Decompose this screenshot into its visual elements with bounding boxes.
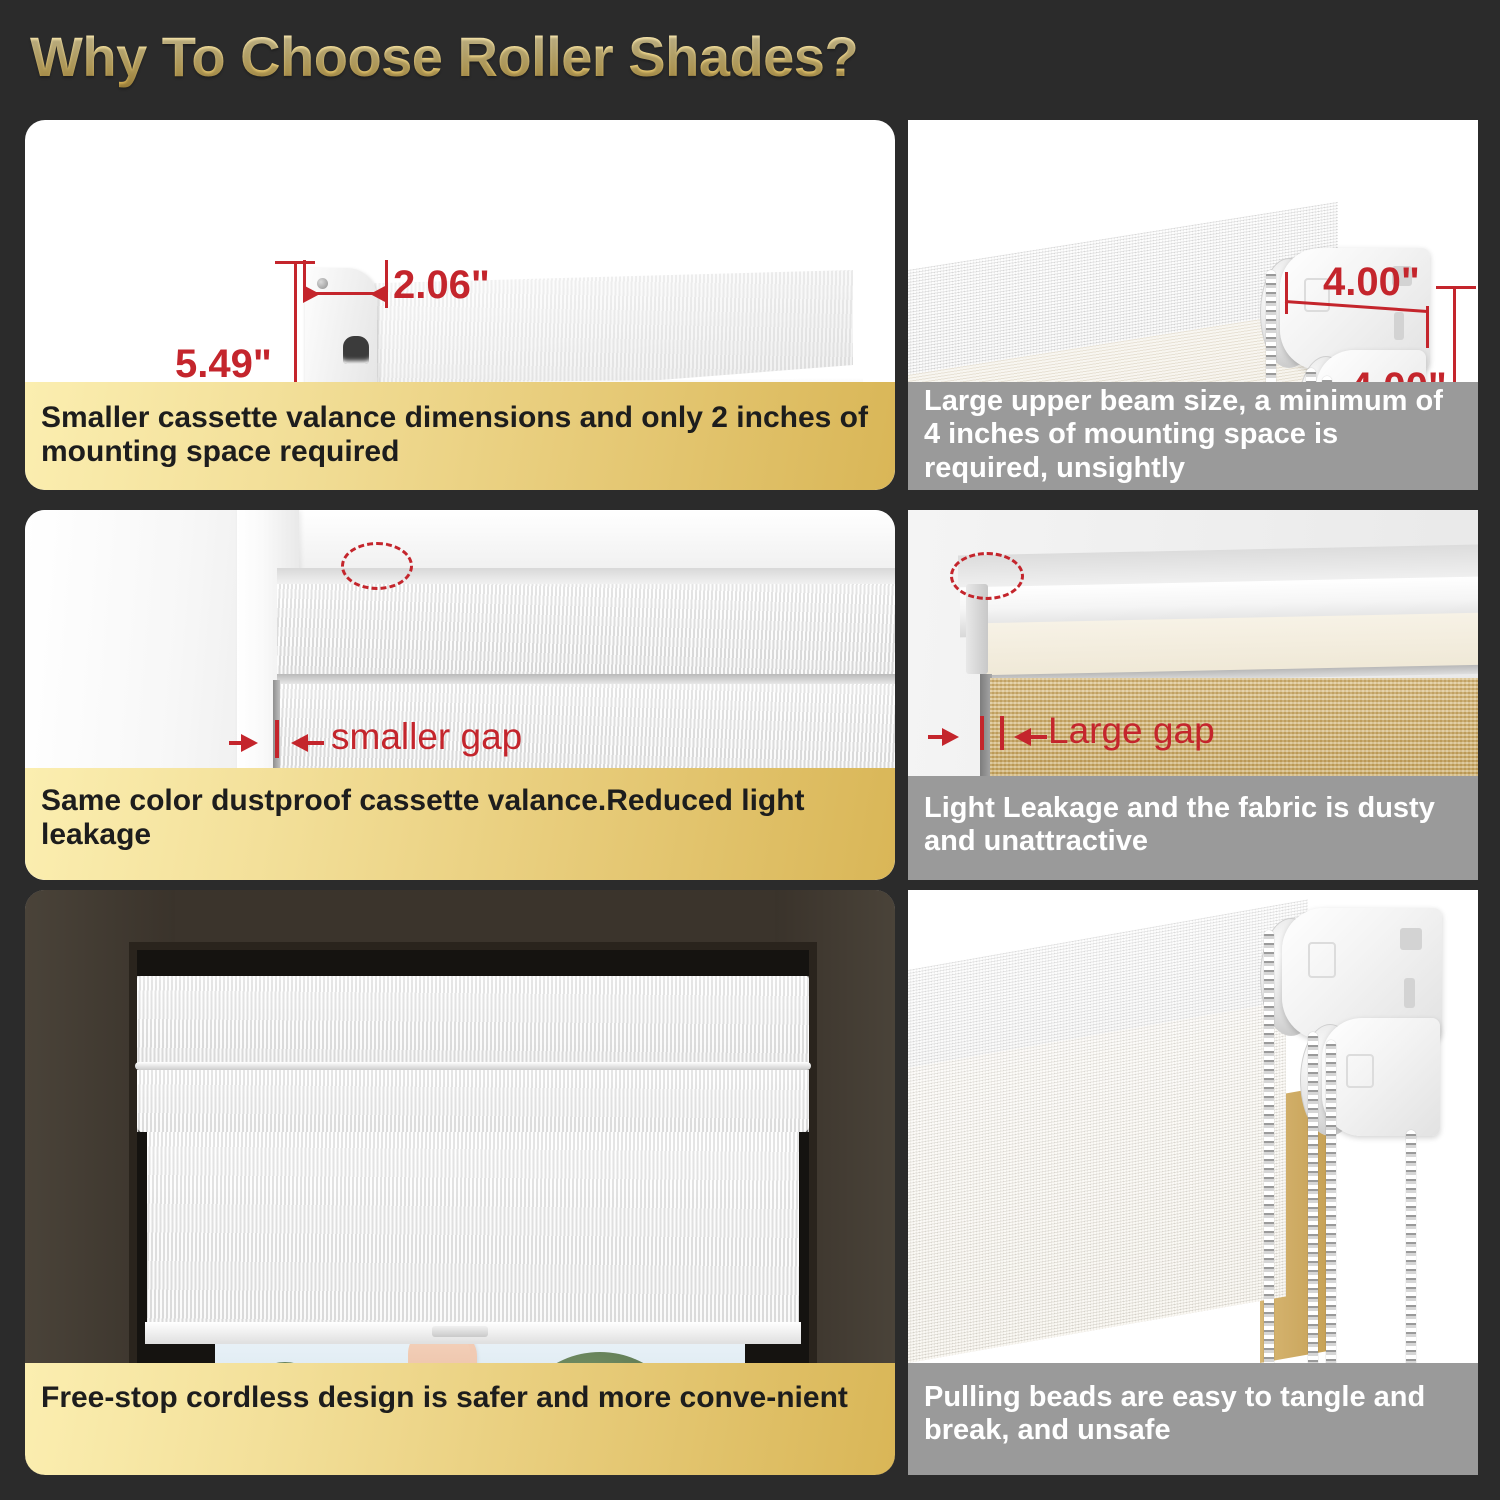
panel-bottom-right: Pulling beads are easy to tangle and bre… <box>908 890 1478 1475</box>
bead-chain <box>1264 930 1274 1370</box>
page-title: Why To Choose Roller Shades? <box>30 24 858 89</box>
dim-tick-top <box>1436 286 1476 289</box>
gap-stem-left <box>229 741 245 745</box>
highlight-ellipse <box>341 542 413 590</box>
cordless-handle <box>432 1326 488 1337</box>
gap-label: smaller gap <box>331 716 522 758</box>
bead-chain <box>1406 1130 1416 1372</box>
gap-marker-bar <box>980 716 984 750</box>
gap-arrow-right <box>1014 728 1031 746</box>
caption-top-right: Large upper beam size, a minimum of 4 in… <box>908 382 1478 490</box>
gap-stem-right <box>308 741 324 745</box>
gap-marker-bar <box>275 720 279 758</box>
cassette-slot-icon <box>343 336 369 364</box>
height-dimension-label: 5.49" <box>175 342 272 387</box>
gap-marker-bar <box>1000 716 1004 750</box>
caption-text: Large upper beam size, a minimum of 4 in… <box>924 385 1462 484</box>
window-frame-top <box>237 510 895 572</box>
caption-text: Smaller cassette valance dimensions and … <box>41 401 879 469</box>
caption-middle-left: Same color dustproof cassette valance.Re… <box>25 768 895 880</box>
caption-text: Free-stop cordless design is safer and m… <box>41 1381 848 1415</box>
caption-bottom-right: Pulling beads are easy to tangle and bre… <box>908 1363 1478 1475</box>
gap-label: Large gap <box>1048 710 1215 752</box>
width-dimension-label: 2.06" <box>393 263 490 308</box>
dim-arrow-right <box>370 285 387 303</box>
shade-fabric-upper <box>277 584 895 674</box>
caption-text: Light Leakage and the fabric is dusty an… <box>924 792 1462 858</box>
gap-stem-left <box>928 735 946 739</box>
width-dimension-label: 4.00" <box>1323 260 1420 305</box>
bracket-slot-icon <box>1394 312 1404 340</box>
bracket-emboss-icon <box>1346 1054 1374 1088</box>
bracket-slot-icon <box>1400 928 1422 950</box>
roller-tube <box>137 1070 809 1132</box>
panel-top-left: 2.06" 5.49" Smaller cassette valance dim… <box>25 120 895 490</box>
caption-text: Same color dustproof cassette valance.Re… <box>41 784 879 852</box>
caption-bottom-left: Free-stop cordless design is safer and m… <box>25 1363 895 1475</box>
caption-middle-right: Light Leakage and the fabric is dusty an… <box>908 776 1478 880</box>
gap-arrow-right <box>291 734 308 752</box>
panel-top-right: 4.00" 4.00" Large upper beam size, a min… <box>908 120 1478 490</box>
highlight-ellipse <box>950 552 1024 600</box>
dim-tick-top <box>275 261 315 264</box>
caption-top-left: Smaller cassette valance dimensions and … <box>25 382 895 490</box>
bracket-slot-icon <box>1404 978 1415 1008</box>
caption-text: Pulling beads are easy to tangle and bre… <box>924 1381 1462 1447</box>
dim-arrow-left <box>303 285 320 303</box>
shade-divider <box>277 674 895 684</box>
mounting-bracket-lower <box>1322 1018 1440 1136</box>
bead-chain <box>1326 1040 1336 1372</box>
bead-chain <box>1308 1032 1318 1372</box>
gap-stem-right <box>1031 735 1047 739</box>
panel-middle-left: smaller gap Same color dustproof cassett… <box>25 510 895 880</box>
bracket-emboss-icon <box>1308 942 1336 978</box>
panel-middle-right: Large gap Light Leakage and the fabric i… <box>908 510 1478 880</box>
shade-fabric <box>147 1132 799 1332</box>
valance-seam <box>135 1062 811 1070</box>
cassette-valance <box>137 976 809 1064</box>
panel-bottom-left: Free-stop cordless design is safer and m… <box>25 890 895 1475</box>
dim-tick-left <box>1285 272 1288 314</box>
